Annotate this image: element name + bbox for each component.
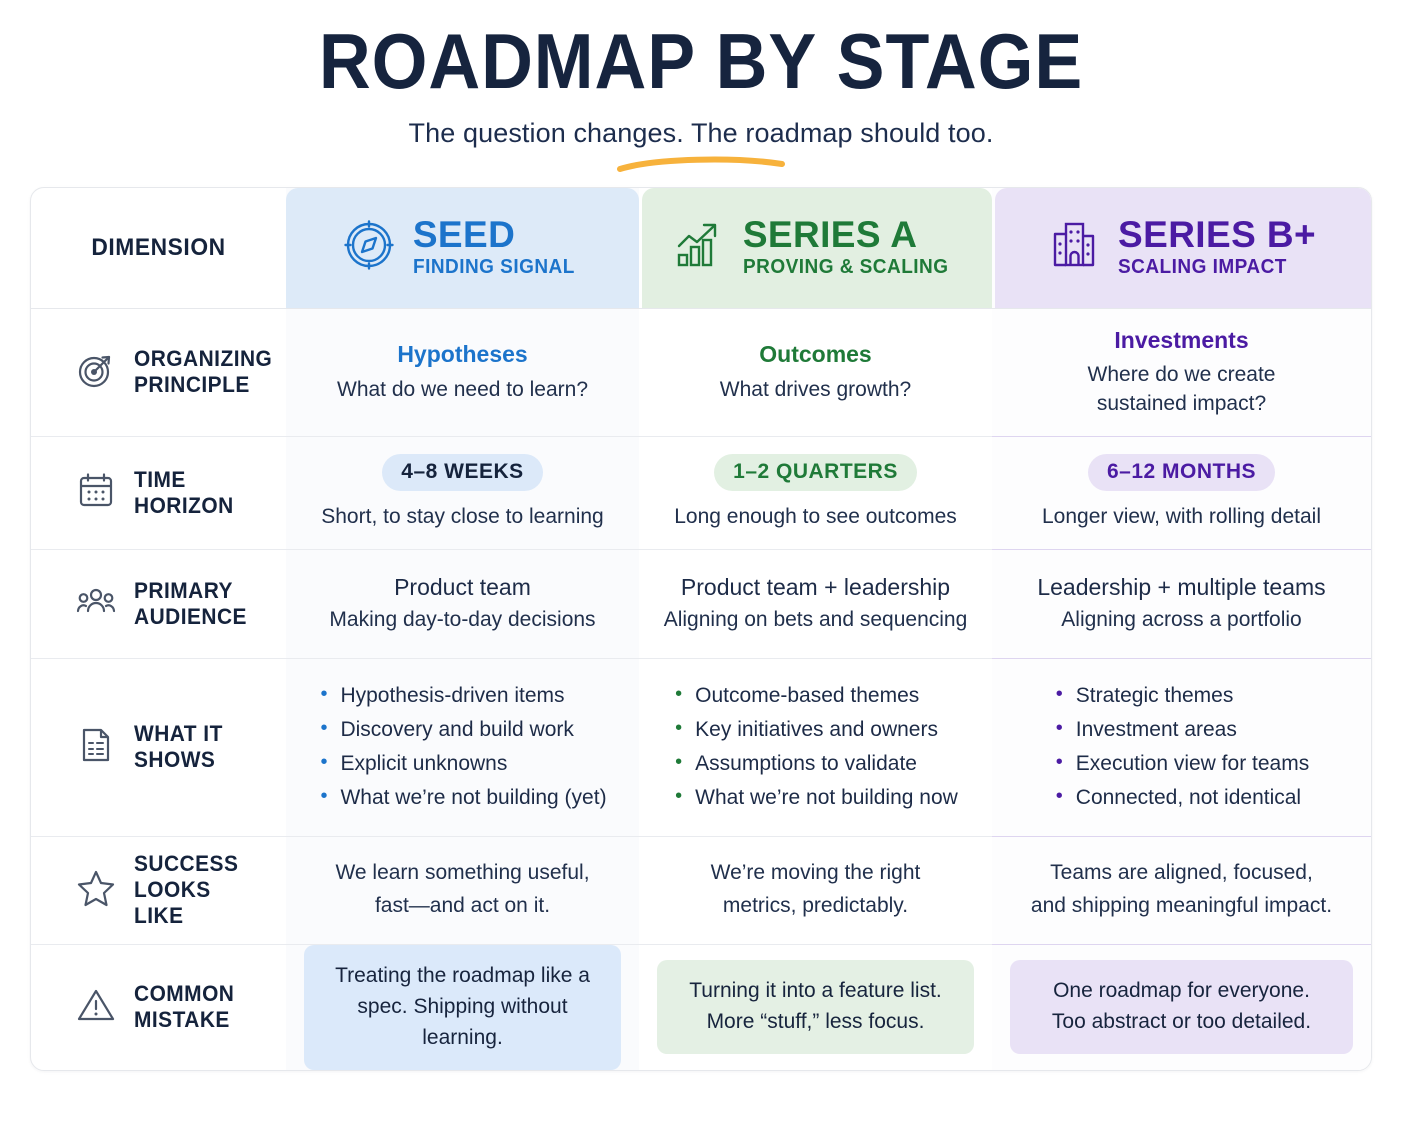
- row-label-common-mistake: COMMON MISTAKE: [31, 944, 286, 1070]
- page-title: Roadmap by Stage: [56, 22, 1346, 100]
- column-tagline-seed: FINDING SIGNAL: [413, 256, 575, 279]
- row-label-text: COMMON MISTAKE: [134, 981, 234, 1033]
- cell-sub: What drives growth?: [657, 376, 974, 405]
- column-header-series-b[interactable]: SERIES B+ SCALING IMPACT: [992, 188, 1371, 308]
- cell-text: Teams are aligned, focused, and shipping…: [1010, 857, 1353, 922]
- dimension-header-cell: DIMENSION: [31, 188, 286, 308]
- list-item: Assumptions to validate: [673, 747, 958, 781]
- bullet-list: Strategic themes Investment areas Execut…: [1054, 679, 1309, 815]
- underline-swoosh: [0, 153, 1402, 175]
- table-row: PRIMARY AUDIENCE Product team Making day…: [31, 549, 1371, 658]
- mistake-box: Turning it into a feature list. More “st…: [657, 960, 974, 1054]
- cell-sub: Making day-to-day decisions: [304, 606, 621, 635]
- column-name-series-a: SERIES A: [743, 214, 918, 255]
- list-item: Execution view for teams: [1054, 747, 1309, 781]
- target-icon: [75, 349, 117, 396]
- column-tagline-series-b: SCALING IMPACT: [1118, 256, 1306, 279]
- time-badge: 1–2 QUARTERS: [714, 454, 917, 491]
- row-label-time-horizon: TIME HORIZON: [31, 436, 286, 549]
- column-header-seed[interactable]: SEED FINDING SIGNAL: [286, 188, 639, 308]
- cell-what-it-shows-series-b: Strategic themes Investment areas Execut…: [992, 658, 1371, 836]
- bullet-list: Hypothesis-driven items Discovery and bu…: [318, 679, 606, 815]
- table-row: ORGANIZING PRINCIPLE Hypotheses What do …: [31, 308, 1371, 436]
- document-icon: [75, 724, 117, 771]
- row-label-text: WHAT IT SHOWS: [134, 721, 261, 773]
- growth-chart-icon: [672, 218, 726, 277]
- list-item: What we’re not building now: [673, 781, 958, 815]
- list-item: Outcome-based themes: [673, 679, 958, 713]
- row-label-text: TIME HORIZON: [134, 467, 261, 519]
- list-item: Investment areas: [1054, 713, 1309, 747]
- list-item: Connected, not identical: [1054, 781, 1309, 815]
- table-row: COMMON MISTAKE Treating the roadmap like…: [31, 944, 1371, 1070]
- cell-text: We learn something useful, fast—and act …: [304, 857, 621, 922]
- row-label-organizing-principle: ORGANIZING PRINCIPLE: [31, 308, 286, 436]
- list-item: Key initiatives and owners: [673, 713, 958, 747]
- column-name-series-b: SERIES B+: [1118, 214, 1316, 255]
- table-row: TIME HORIZON 4–8 WEEKS Short, to stay cl…: [31, 436, 1371, 549]
- star-icon: [75, 866, 117, 913]
- cell-success-seed: We learn something useful, fast—and act …: [286, 836, 639, 944]
- column-name-seed: SEED: [413, 214, 515, 255]
- cell-time-horizon-series-a: 1–2 QUARTERS Long enough to see outcomes: [639, 436, 992, 549]
- cell-sub: Aligning on bets and sequencing: [657, 606, 974, 635]
- calendar-icon: [75, 469, 117, 516]
- cell-lead: Investments: [1010, 325, 1353, 355]
- list-item: Strategic themes: [1054, 679, 1309, 713]
- column-header-series-a[interactable]: SERIES A PROVING & SCALING: [639, 188, 992, 308]
- roadmap-table: DIMENSION SEED: [30, 187, 1372, 1071]
- time-badge: 4–8 WEEKS: [382, 454, 542, 491]
- cell-time-horizon-series-b: 6–12 MONTHS Longer view, with rolling de…: [992, 436, 1371, 549]
- cell-success-series-a: We’re moving the right metrics, predicta…: [639, 836, 992, 944]
- list-item: Hypothesis-driven items: [318, 679, 606, 713]
- page-header: Roadmap by Stage The question changes. T…: [0, 0, 1402, 175]
- cell-time-horizon-seed: 4–8 WEEKS Short, to stay close to learni…: [286, 436, 639, 549]
- cell-sub: Long enough to see outcomes: [657, 503, 974, 532]
- cell-what-it-shows-seed: Hypothesis-driven items Discovery and bu…: [286, 658, 639, 836]
- table-row: SUCCESS LOOKS LIKE We learn something us…: [31, 836, 1371, 944]
- cell-sub: Longer view, with rolling detail: [1010, 503, 1353, 532]
- cell-sub: What do we need to learn?: [304, 376, 621, 405]
- cell-organizing-principle-series-a: Outcomes What drives growth?: [639, 308, 992, 436]
- row-label-text: ORGANIZING PRINCIPLE: [134, 346, 272, 398]
- page-subtitle: The question changes. The roadmap should…: [0, 118, 1402, 149]
- cell-mistake-series-a: Turning it into a feature list. More “st…: [639, 944, 992, 1070]
- mistake-box: One roadmap for everyone. Too abstract o…: [1010, 960, 1353, 1054]
- cell-sub: Short, to stay close to learning: [304, 503, 621, 532]
- compass-icon: [342, 218, 396, 277]
- row-label-what-it-shows: WHAT IT SHOWS: [31, 658, 286, 836]
- cell-sub: Where do we create sustained impact?: [1010, 361, 1353, 419]
- cell-primary-audience-series-a: Product team + leadership Aligning on be…: [639, 549, 992, 658]
- cell-success-series-b: Teams are aligned, focused, and shipping…: [992, 836, 1371, 944]
- cell-what-it-shows-series-a: Outcome-based themes Key initiatives and…: [639, 658, 992, 836]
- dimension-header-label: DIMENSION: [37, 234, 279, 262]
- cell-mistake-seed: Treating the roadmap like a spec. Shippi…: [286, 944, 639, 1070]
- time-badge: 6–12 MONTHS: [1088, 454, 1275, 491]
- cell-lead: Product team + leadership: [657, 572, 974, 602]
- cell-lead: Product team: [304, 572, 621, 602]
- buildings-icon: [1047, 218, 1101, 277]
- row-label-text: SUCCESS LOOKS LIKE: [134, 851, 261, 929]
- column-tagline-series-a: PROVING & SCALING: [743, 256, 948, 279]
- row-label-primary-audience: PRIMARY AUDIENCE: [31, 549, 286, 658]
- cell-organizing-principle-seed: Hypotheses What do we need to learn?: [286, 308, 639, 436]
- cell-lead: Outcomes: [657, 339, 974, 369]
- list-item: What we’re not building (yet): [318, 781, 606, 815]
- list-item: Explicit unknowns: [318, 747, 606, 781]
- table-row: WHAT IT SHOWS Hypothesis-driven items Di…: [31, 658, 1371, 836]
- cell-sub: Aligning across a portfolio: [1010, 606, 1353, 635]
- table-header-row: DIMENSION SEED: [31, 188, 1371, 308]
- cell-primary-audience-seed: Product team Making day-to-day decisions: [286, 549, 639, 658]
- bullet-list: Outcome-based themes Key initiatives and…: [673, 679, 958, 815]
- mistake-box: Treating the roadmap like a spec. Shippi…: [304, 945, 621, 1070]
- people-icon: [75, 580, 117, 627]
- warning-icon: [75, 984, 117, 1031]
- list-item: Discovery and build work: [318, 713, 606, 747]
- cell-organizing-principle-series-b: Investments Where do we create sustained…: [992, 308, 1371, 436]
- cell-primary-audience-series-b: Leadership + multiple teams Aligning acr…: [992, 549, 1371, 658]
- cell-lead: Leadership + multiple teams: [1010, 572, 1353, 602]
- cell-mistake-series-b: One roadmap for everyone. Too abstract o…: [992, 944, 1371, 1070]
- cell-text: We’re moving the right metrics, predicta…: [657, 857, 974, 922]
- row-label-success-looks-like: SUCCESS LOOKS LIKE: [31, 836, 286, 944]
- cell-lead: Hypotheses: [304, 339, 621, 369]
- row-label-text: PRIMARY AUDIENCE: [134, 578, 247, 630]
